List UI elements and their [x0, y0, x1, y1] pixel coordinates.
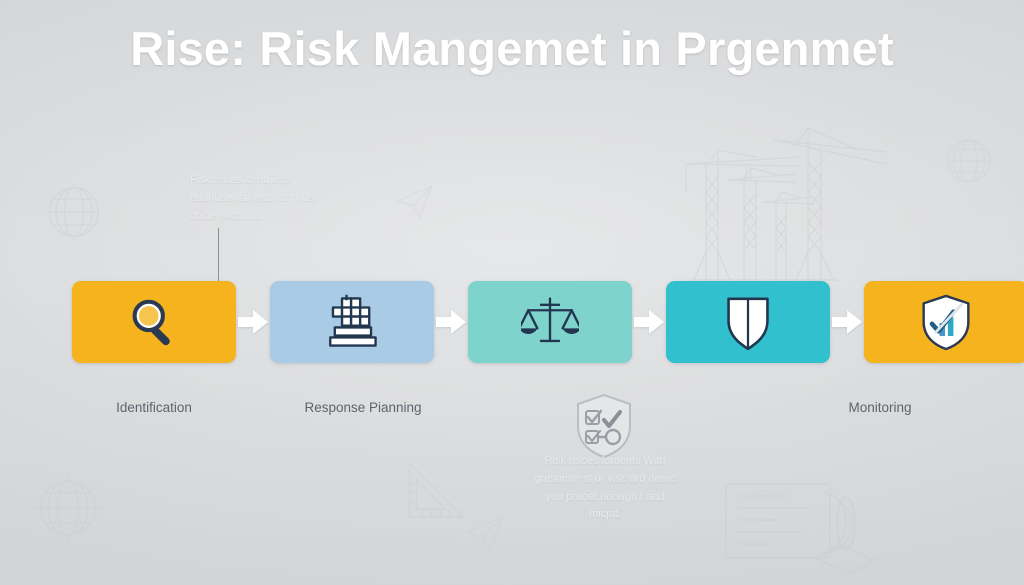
- shield-icon: [723, 293, 773, 351]
- step-box-1[interactable]: [72, 281, 236, 363]
- process-step-response-planning[interactable]: [270, 281, 434, 363]
- flow-arrow-1: [236, 307, 270, 337]
- page-title: Rise: Risk Mangemet in Prgenmet: [0, 22, 1024, 76]
- step-label-6: Monitoring: [798, 398, 962, 418]
- step-label-2: Response Pianning: [281, 398, 445, 418]
- step-box-4[interactable]: [666, 281, 830, 363]
- step-box-2[interactable]: [270, 281, 434, 363]
- process-step-identification[interactable]: [72, 281, 236, 363]
- process-flow: [72, 281, 962, 363]
- bottom-copy-text: Risk relces foments With gatsumte sf or …: [531, 453, 679, 524]
- step-box-5[interactable]: [864, 281, 1024, 363]
- top-callout: Fisk relses cend inte enanpser sp reat f…: [190, 172, 326, 225]
- step-label-row: Identification Response Pianning Monitor…: [72, 398, 962, 420]
- bar-chart-building-icon: [322, 293, 382, 351]
- flow-arrow-4: [830, 307, 864, 337]
- shield-chart-check-icon: [919, 293, 973, 351]
- process-step-assessment[interactable]: [468, 281, 632, 363]
- balance-scales-icon: [521, 294, 579, 350]
- step-box-3[interactable]: [468, 281, 632, 363]
- flow-arrow-3: [632, 307, 666, 337]
- process-step-mitigation[interactable]: [666, 281, 830, 363]
- magnifying-glass-icon: [126, 294, 182, 350]
- top-callout-text: Fisk relses cend inte enanpser sp reat f…: [190, 172, 326, 225]
- flow-arrow-2: [434, 307, 468, 337]
- step-label-1: Identification: [72, 398, 236, 418]
- process-step-control[interactable]: [864, 281, 1024, 363]
